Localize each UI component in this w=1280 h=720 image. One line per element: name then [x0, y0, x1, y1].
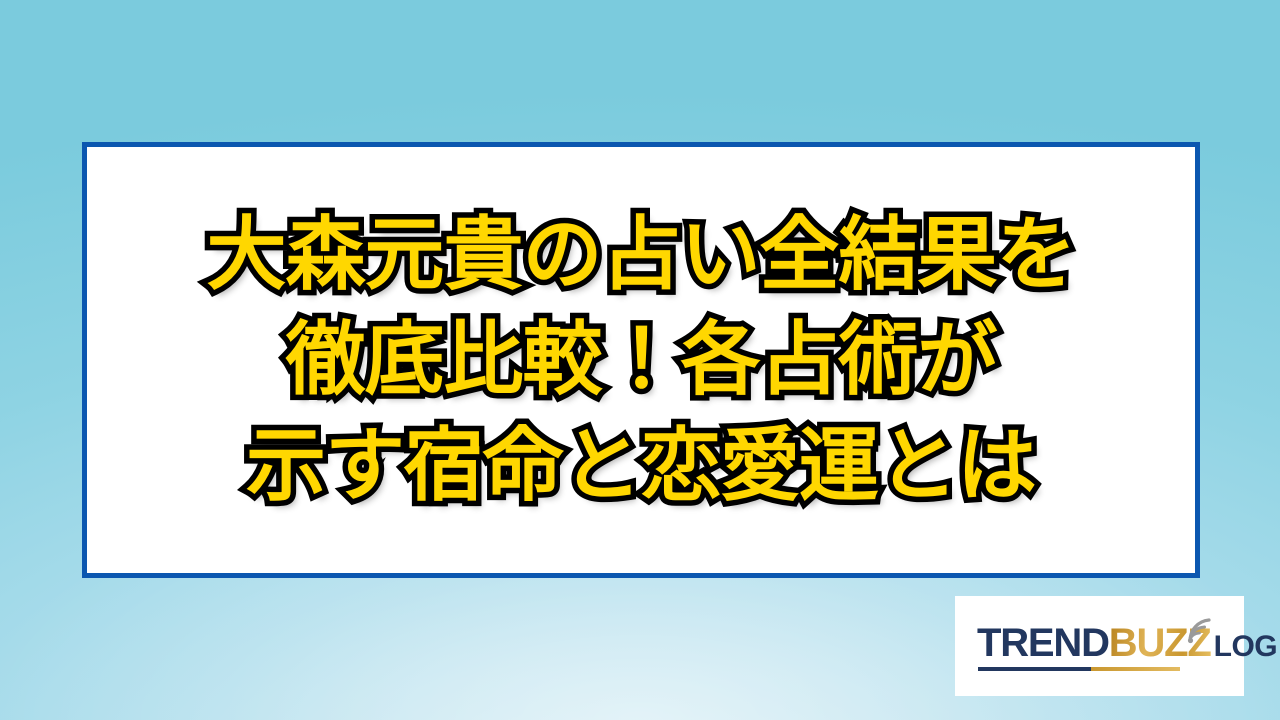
- title-text-block: 大森元貴の占い全結果を 徹底比較！各占術が 示す宿命と恋愛運とは: [87, 202, 1195, 519]
- logo-inner: TREND BUZZ LOG: [977, 615, 1222, 677]
- site-logo[interactable]: TREND BUZZ LOG: [955, 596, 1244, 696]
- logo-underline-navy: [978, 667, 1091, 671]
- logo-text-trend: TREND: [977, 621, 1109, 666]
- wifi-signal-icon: [1184, 608, 1224, 646]
- wifi-signal-dot: [1188, 638, 1193, 643]
- title-card: 大森元貴の占い全結果を 徹底比較！各占術が 示す宿命と恋愛運とは: [82, 142, 1200, 578]
- thumbnail-canvas: 大森元貴の占い全結果を 徹底比較！各占術が 示す宿命と恋愛運とは TREND B…: [0, 0, 1280, 720]
- logo-underline-gold: [1091, 667, 1180, 671]
- title-line-3: 示す宿命と恋愛運とは: [246, 413, 1036, 519]
- logo-underline: [978, 667, 1180, 671]
- logo-wordmark: TREND BUZZ LOG: [977, 621, 1277, 666]
- title-line-1: 大森元貴の占い全結果を: [207, 202, 1076, 308]
- title-line-2: 徹底比較！各占術が: [286, 307, 997, 413]
